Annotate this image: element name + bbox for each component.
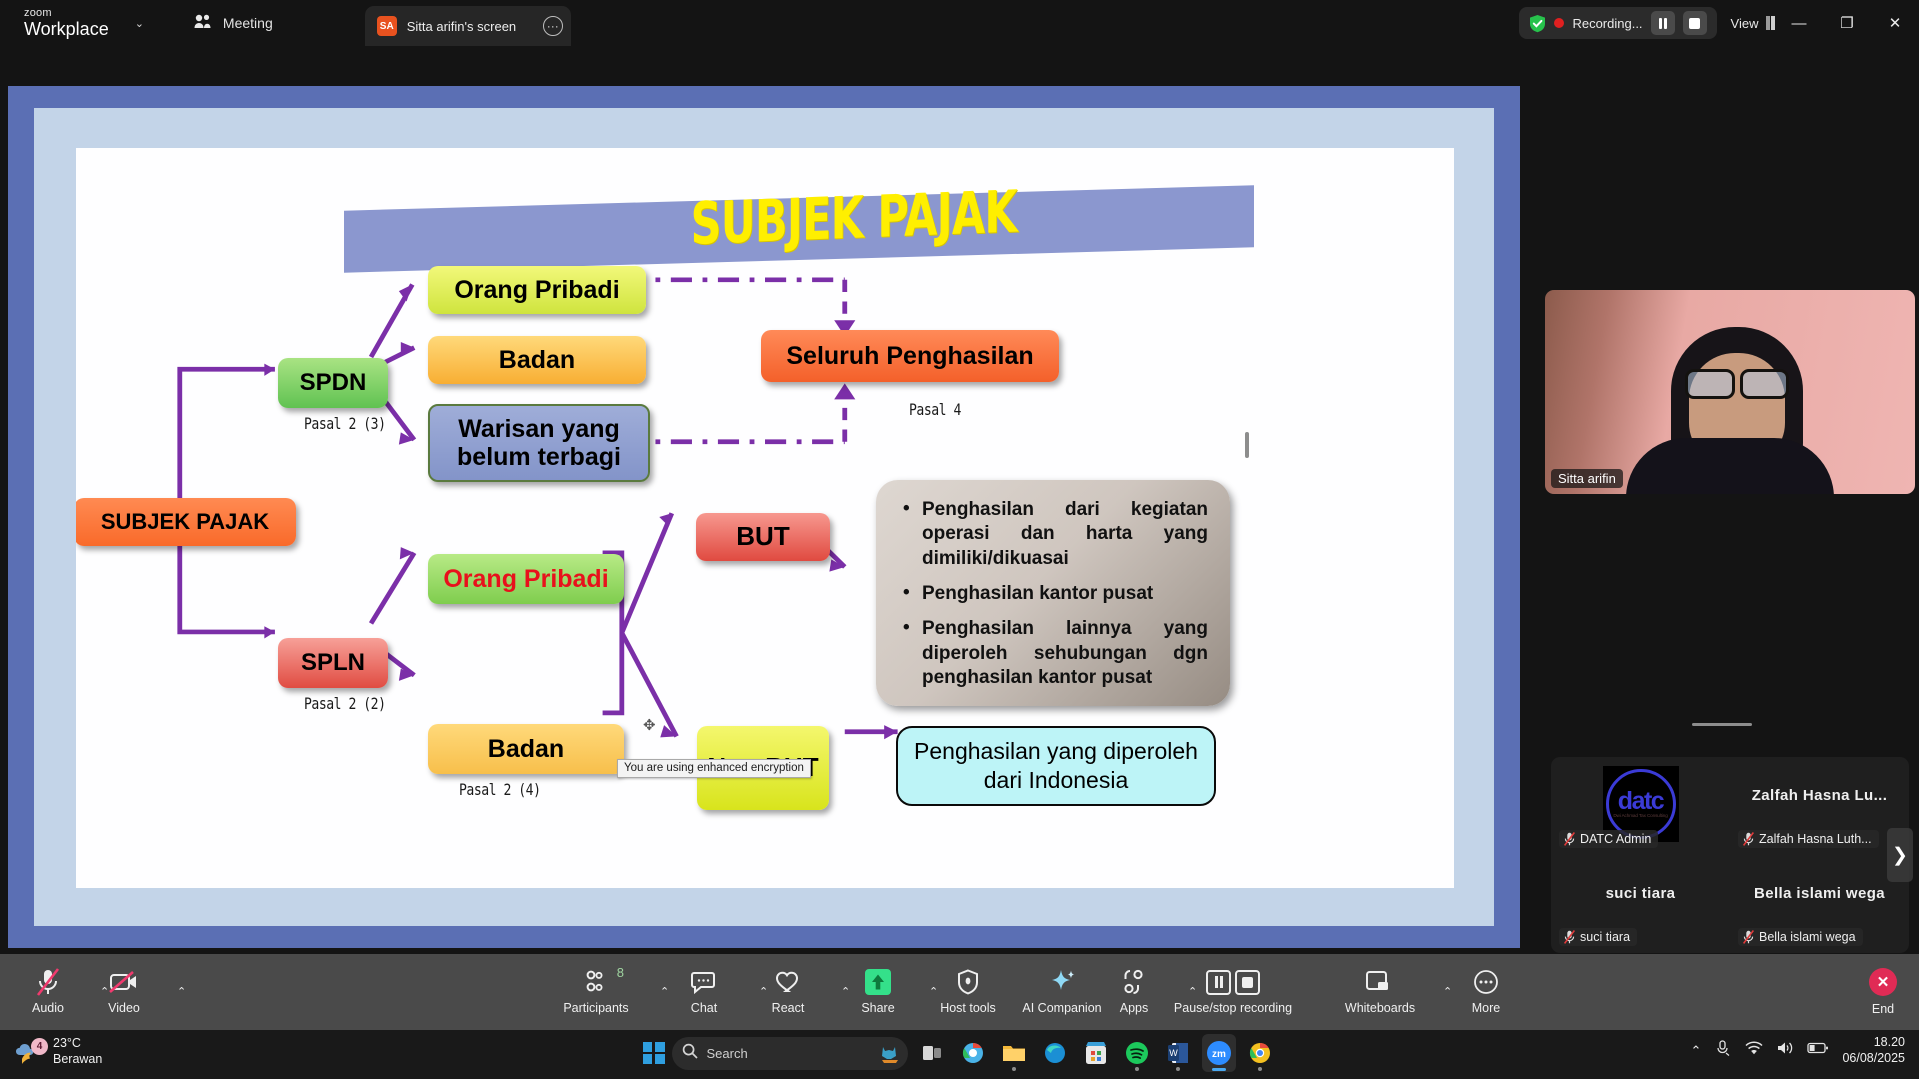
toolbar-share-button[interactable]: ⌃ Share	[832, 967, 924, 1015]
bullet-list: Penghasilan dari kegiatan operasi dan ha…	[900, 498, 1208, 690]
slide-title: SUBJEK PAJAK	[691, 178, 1002, 258]
taskbar-clock[interactable]: 18.20 06/08/2025	[1842, 1035, 1905, 1066]
tray-battery-icon[interactable]	[1807, 1041, 1829, 1060]
participants-icon: 8 ⌃	[582, 967, 610, 997]
pause-recording-button[interactable]	[1651, 11, 1675, 35]
toolbar-label: Chat	[691, 1001, 717, 1015]
taskbar-app-spotify[interactable]	[1120, 1034, 1154, 1072]
pasal-2-3: Pasal 2 (3)	[304, 414, 385, 433]
node-subjek-pajak: SUBJEK PAJAK	[76, 498, 296, 546]
whiteboard-icon: ⌃	[1365, 967, 1395, 997]
participant-tile[interactable]: Bella islami wega Bella islami wega	[1730, 855, 1909, 953]
shared-screen-stage: SUBJEK PAJAK	[8, 86, 1520, 948]
microphone-muted-icon	[1564, 832, 1575, 846]
taskbar-app-zoom[interactable]: zm	[1202, 1034, 1236, 1072]
clock-time: 18.20	[1842, 1035, 1905, 1051]
list-item: Penghasilan lainnya yang diperoleh sehub…	[900, 617, 1208, 690]
end-label: End	[1872, 1002, 1894, 1016]
title-bar: zoom Workplace ⌄ Meeting SA Sitta arifin…	[0, 0, 1919, 46]
toolbar-label: Host tools	[940, 1001, 996, 1015]
tray-volume-icon[interactable]	[1776, 1040, 1794, 1061]
node-spln: SPLN	[278, 638, 388, 688]
share-screen-icon: ⌃	[865, 967, 891, 997]
participant-display-name: Zalfah Hasna Lu...	[1730, 787, 1909, 804]
microphone-muted-icon: ⌃	[36, 967, 60, 997]
layout-icon	[1766, 16, 1776, 30]
encryption-shield-icon	[1529, 14, 1546, 33]
tab-overflow-icon[interactable]: ···	[543, 16, 563, 36]
participant-display-name: suci tiara	[1551, 885, 1730, 902]
encryption-tooltip: You are using enhanced encryption	[617, 759, 811, 778]
taskview-button[interactable]	[915, 1034, 949, 1072]
participant-name-badge: suci tiara	[1559, 928, 1637, 946]
tray-wifi-icon[interactable]	[1745, 1040, 1763, 1061]
view-label: View	[1731, 16, 1759, 31]
toolbar-label: More	[1472, 1001, 1500, 1015]
toolbar-pause-stop-recording-button[interactable]: Pause/stop recording	[1163, 967, 1303, 1015]
microphone-muted-icon	[1743, 930, 1754, 944]
taskbar-app-chrome-alt[interactable]	[956, 1034, 990, 1072]
node-badan-spdn: Badan	[428, 336, 646, 384]
windows-taskbar: 4 23°C Berawan Search	[0, 1030, 1919, 1079]
penghasilan-but-list: Penghasilan dari kegiatan operasi dan ha…	[876, 480, 1230, 706]
toolbar-participants-button[interactable]: 8 ⌃ Participants	[550, 967, 642, 1015]
svg-text:zm: zm	[1212, 1049, 1226, 1060]
pasal-2-4: Pasal 2 (4)	[459, 780, 540, 799]
title-bar-right-controls: Recording... View — ❐ ✕	[1519, 0, 1919, 46]
avatar: SA	[377, 16, 397, 36]
participant-name: DATC Admin	[1580, 832, 1651, 846]
stop-recording-button[interactable]	[1683, 11, 1707, 35]
participant-name: suci tiara	[1580, 930, 1630, 944]
toolbar-chat-button[interactable]: ⌃ Chat	[658, 967, 750, 1015]
list-item: Penghasilan kantor pusat	[900, 582, 1208, 606]
participant-name-badge: Zalfah Hasna Luth...	[1738, 830, 1879, 848]
view-button[interactable]: View	[1731, 16, 1775, 31]
toolbar-label: Pause/stop recording	[1174, 1001, 1292, 1015]
clock-date: 06/08/2025	[1842, 1051, 1905, 1067]
more-dots-icon	[1473, 967, 1499, 997]
search-placeholder: Search	[707, 1046, 748, 1061]
chat-icon: ⌃	[691, 967, 717, 997]
toolbar-label: Participants	[563, 1001, 628, 1015]
datc-logo-text: datc	[1618, 790, 1663, 813]
node-warisan-belum-terbagi: Warisan yang belum terbagi	[428, 404, 650, 482]
tab-meeting[interactable]: Meeting	[172, 0, 295, 46]
shield-icon	[957, 967, 979, 997]
toolbar-whiteboards-button[interactable]: ⌃ Whiteboards	[1320, 967, 1440, 1015]
node-but: BUT	[696, 513, 830, 561]
speaker-name-label: Sitta arifin	[1551, 469, 1623, 488]
participant-name: Bella islami wega	[1759, 930, 1856, 944]
chevron-up-icon[interactable]: ⌃	[177, 985, 186, 998]
camera-muted-icon: ⌃	[109, 967, 139, 997]
zoom-meeting-window: zoom Workplace ⌄ Meeting SA Sitta arifin…	[0, 0, 1919, 1079]
tray-expand-icon[interactable]: ⌃	[1691, 1043, 1702, 1059]
search-icon	[682, 1043, 698, 1064]
node-seluruh-penghasilan: Seluruh Penghasilan	[761, 330, 1059, 382]
copilot-cat-icon[interactable]	[878, 1041, 902, 1070]
pasal-2-2: Pasal 2 (2)	[304, 694, 385, 713]
toolbar-label: Share	[861, 1001, 894, 1015]
recording-label: Recording...	[1572, 16, 1642, 31]
taskbar-app-chrome[interactable]	[1243, 1034, 1277, 1072]
tab-shared-screen-label: Sitta arifin's screen	[407, 19, 516, 34]
toolbar-label: Apps	[1120, 1001, 1149, 1015]
toolbar-react-button[interactable]: ⌃ React	[742, 967, 834, 1015]
taskbar-app-word[interactable]: W	[1161, 1034, 1195, 1072]
taskbar-app-file-explorer[interactable]	[997, 1034, 1031, 1072]
participant-name-badge: DATC Admin	[1559, 830, 1658, 848]
pasal-4: Pasal 4	[909, 400, 961, 419]
toolbar-label: Whiteboards	[1345, 1001, 1415, 1015]
participant-tile[interactable]: suci tiara suci tiara	[1551, 855, 1730, 953]
toolbar-label: React	[772, 1001, 805, 1015]
toolbar-video-button[interactable]: ⌃ Video	[78, 967, 170, 1015]
sparkle-icon	[1048, 967, 1076, 997]
slide-frame: SUBJEK PAJAK	[34, 108, 1494, 926]
move-cursor-icon: ✥	[643, 716, 656, 734]
panel-resize-handle[interactable]	[1245, 432, 1249, 458]
toolbar-host-tools-button[interactable]: Host tools	[922, 967, 1014, 1015]
end-call-icon: ✕	[1869, 968, 1897, 996]
windows-start-icon[interactable]	[643, 1042, 665, 1064]
node-orang-pribadi-spdn: Orang Pribadi	[428, 266, 646, 314]
tab-meeting-label: Meeting	[223, 15, 273, 31]
node-orang-pribadi-spln: Orang Pribadi	[428, 554, 624, 604]
microphone-muted-icon	[1743, 832, 1754, 846]
meeting-toolbar: ⌃ Audio ⌃ Video 8 ⌃ Participants ⌃	[0, 954, 1919, 1030]
weather-badge: 4	[31, 1038, 48, 1055]
brand-line-2: Workplace	[24, 20, 109, 38]
taskbar-app-edge[interactable]	[1038, 1034, 1072, 1072]
datc-logo-subtitle: Dwi Achmad Tax Consulting	[1613, 813, 1667, 818]
people-icon	[194, 14, 213, 32]
next-participants-button[interactable]: ❯	[1887, 828, 1913, 882]
list-item: Penghasilan dari kegiatan operasi dan ha…	[900, 498, 1208, 571]
node-spdn: SPDN	[278, 358, 388, 408]
end-meeting-button[interactable]: ✕ End	[1869, 968, 1897, 1016]
recording-status-pill: Recording...	[1519, 7, 1716, 39]
weather-widget[interactable]: 4 23°C Berawan	[14, 1036, 102, 1067]
participant-tile[interactable]: datc Dwi Achmad Tax Consulting DATC Admi…	[1551, 757, 1730, 855]
microphone-muted-icon	[1564, 930, 1575, 944]
weather-description: Berawan	[53, 1052, 102, 1068]
video-panel-grip[interactable]	[1692, 723, 1752, 726]
participants-thumbnail-grid: datc Dwi Achmad Tax Consulting DATC Admi…	[1551, 757, 1909, 953]
node-penghasilan-indonesia: Penghasilan yang diperoleh dari Indonesi…	[896, 726, 1216, 806]
node-badan-spln: Badan	[428, 724, 624, 774]
brand-line-1: zoom	[24, 8, 109, 19]
tray-microphone-icon[interactable]	[1714, 1039, 1732, 1062]
search-input[interactable]: Search	[672, 1037, 908, 1070]
recording-dot-icon	[1554, 18, 1564, 28]
restore-button[interactable]: ❐	[1823, 0, 1871, 46]
heart-icon: ⌃	[775, 967, 801, 997]
participant-name: Zalfah Hasna Luth...	[1759, 832, 1872, 846]
apps-icon: ⌃	[1120, 967, 1148, 997]
participant-body	[1626, 438, 1834, 494]
cloud-icon: 4	[14, 1037, 44, 1067]
pause-stop-icon	[1206, 967, 1260, 997]
minimize-button[interactable]: —	[1775, 0, 1823, 46]
system-tray: ⌃ 18.20 06/08/2025	[1691, 1035, 1905, 1066]
taskbar-center: Search	[643, 1034, 1277, 1072]
glasses-icon	[1685, 369, 1789, 399]
toolbar-more-button[interactable]: More	[1440, 967, 1532, 1015]
toolbar-label: Audio	[32, 1001, 64, 1015]
participant-name-badge: Bella islami wega	[1738, 928, 1863, 946]
toolbar-label: Video	[108, 1001, 140, 1015]
speaker-video-tile[interactable]: Sitta arifin	[1545, 290, 1915, 494]
taskbar-app-microsoft-store[interactable]	[1079, 1034, 1113, 1072]
tab-shared-screen[interactable]: SA Sitta arifin's screen ···	[365, 6, 571, 46]
participants-count: 8	[617, 965, 624, 980]
participant-tile[interactable]: Zalfah Hasna Lu... Zalfah Hasna Luth...	[1730, 757, 1909, 855]
close-button[interactable]: ✕	[1871, 0, 1919, 46]
svg-text:W: W	[1169, 1048, 1178, 1058]
chevron-down-icon[interactable]: ⌄	[135, 17, 144, 30]
zoom-brand-logo: zoom Workplace	[24, 8, 109, 38]
weather-temperature: 23°C	[53, 1036, 102, 1052]
participant-display-name: Bella islami wega	[1730, 885, 1909, 902]
